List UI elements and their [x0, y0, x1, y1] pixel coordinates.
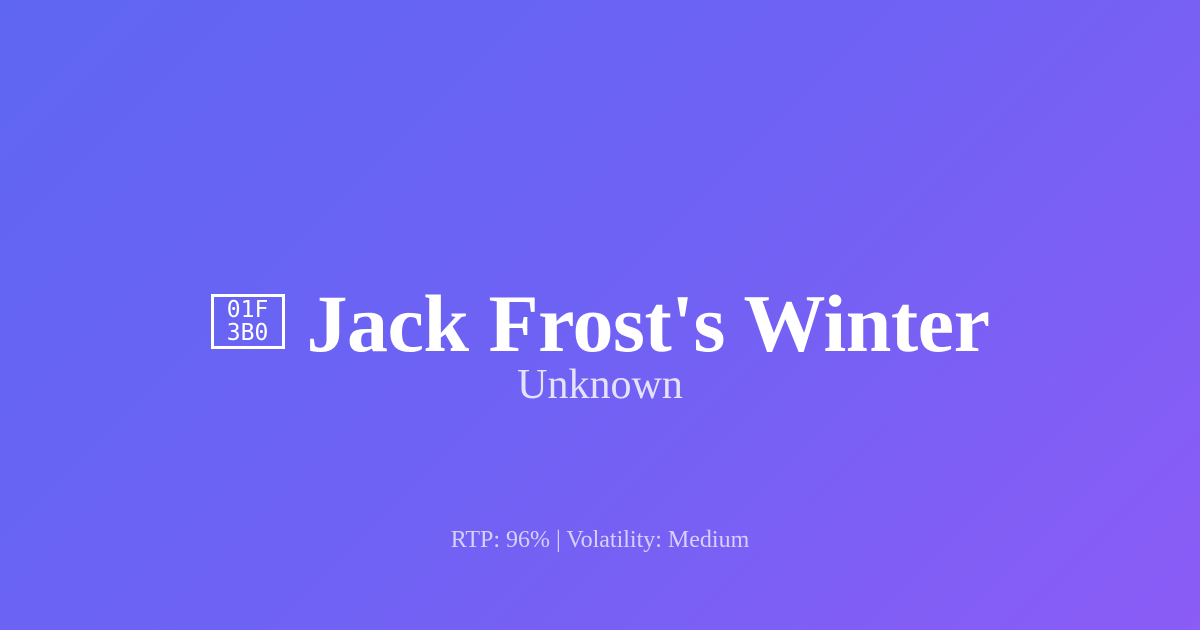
game-stats-line: RTP: 96% | Volatility: Medium [0, 528, 1200, 552]
tofu-codepoint-top: 01F [227, 299, 269, 322]
provider-name: Unknown [0, 364, 1200, 406]
page-title: Jack Frost's Winter [307, 283, 990, 365]
slot-machine-emoji-tofu-icon: 01F 3B0 [211, 294, 285, 349]
tofu-codepoint-bottom: 3B0 [227, 322, 269, 345]
game-preview-card: 01F 3B0 Jack Frost's Winter Unknown RTP:… [0, 0, 1200, 630]
